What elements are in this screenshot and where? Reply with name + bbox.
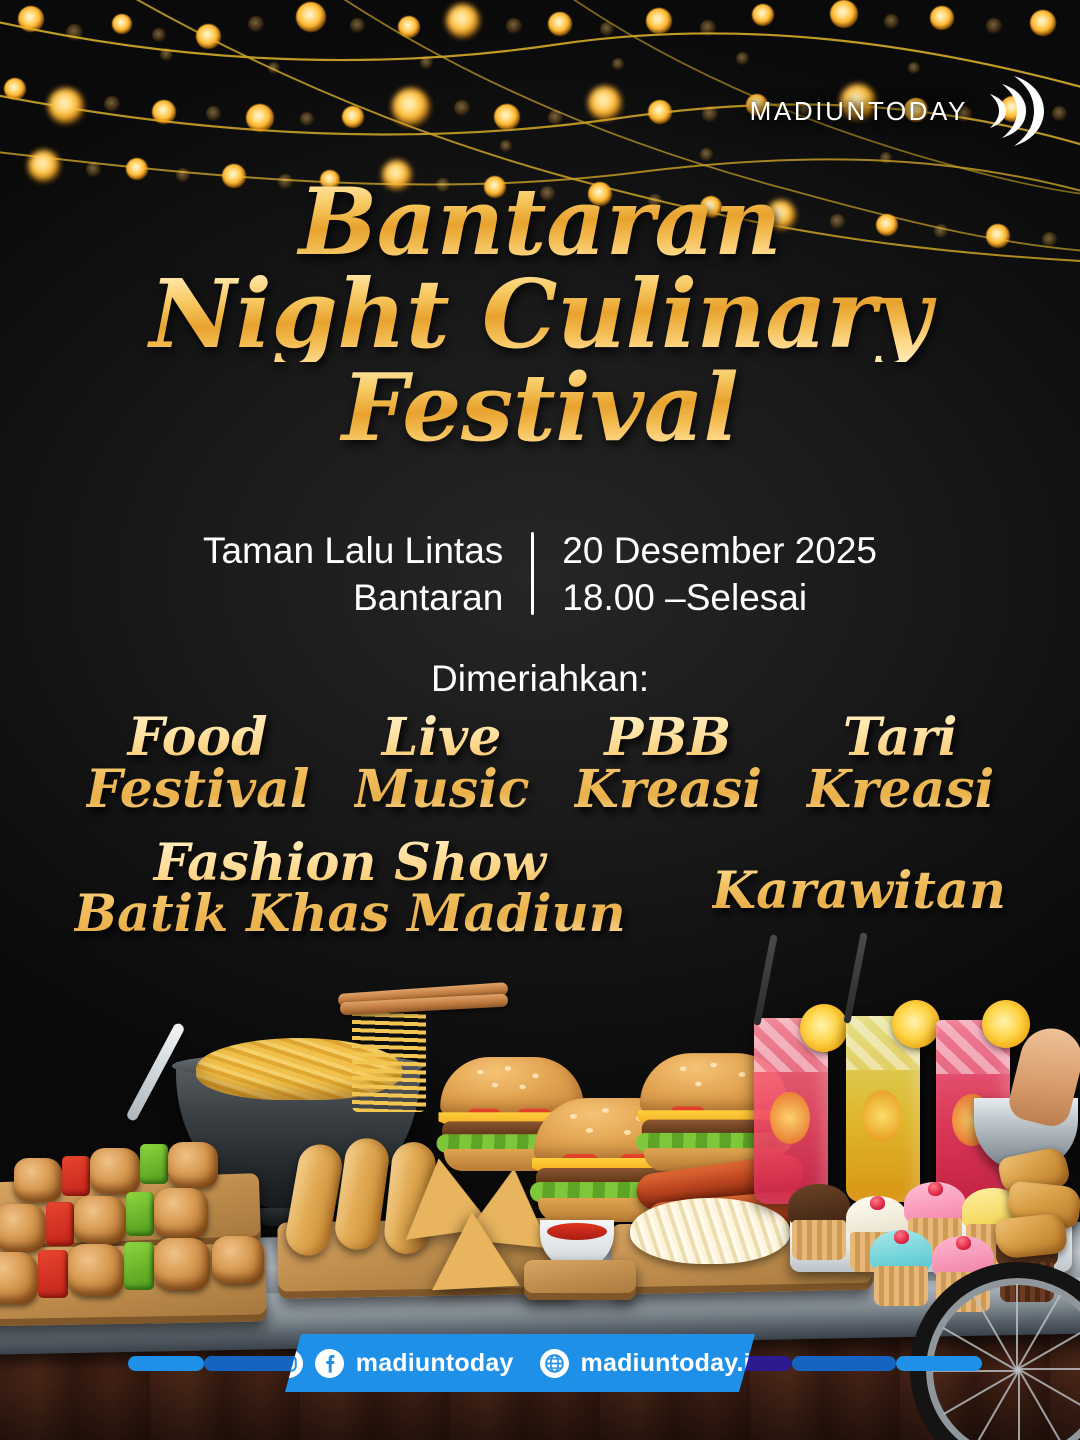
fried-chicken bbox=[994, 1212, 1068, 1259]
satay-meat bbox=[154, 1238, 210, 1290]
brand-logo[interactable]: MADIUNTODAY bbox=[750, 72, 1044, 150]
globe-icon[interactable] bbox=[540, 1349, 569, 1378]
lineup-item-pbb-kreasi: PBB Kreasi bbox=[574, 712, 762, 816]
swoosh-arc-icon bbox=[974, 72, 1044, 150]
lemon-garnish bbox=[800, 1004, 848, 1052]
cupcake-liner bbox=[874, 1266, 928, 1306]
logo-wordmark: MADIUNTODAY bbox=[750, 96, 968, 127]
drinking-straw bbox=[843, 932, 867, 1024]
lineup-item-live-music: Live Music bbox=[354, 712, 530, 816]
lineup-item-fashion-show: Fashion Show Batik Khas Madiun bbox=[74, 838, 626, 940]
lineup-row-2: Fashion Show Batik Khas Madiun Karawitan bbox=[0, 838, 1080, 940]
satay-meat bbox=[14, 1158, 62, 1202]
title-line-3: Festival bbox=[0, 362, 1080, 454]
lineup-item-tari-kreasi: Tari Kreasi bbox=[806, 712, 994, 816]
footer-contact-bar: madiuntoday madiuntoday.id bbox=[0, 1334, 1080, 1392]
satay-meat bbox=[0, 1252, 38, 1304]
fruit-slice bbox=[862, 1090, 902, 1142]
lineup-row-1: Food Festival Live Music PBB Kreasi Tari… bbox=[0, 712, 1080, 816]
satay-pepper-red bbox=[46, 1202, 74, 1246]
title-line-2: Night Culinary bbox=[0, 268, 1080, 362]
lineup-item-food-festival: Food Festival bbox=[86, 712, 310, 816]
footer-segment bbox=[792, 1356, 896, 1371]
lineup-item-karawitan: Karawitan bbox=[712, 838, 1006, 917]
satay-meat bbox=[68, 1244, 124, 1296]
satay-meat bbox=[0, 1204, 46, 1252]
cupcake-liner bbox=[792, 1220, 846, 1260]
venue-line-1: Taman Lalu Lintas bbox=[203, 528, 503, 575]
event-details: Taman Lalu Lintas Bantaran 20 Desember 2… bbox=[0, 528, 1080, 621]
cupcake-blue bbox=[870, 1230, 932, 1306]
samosa bbox=[428, 1210, 520, 1291]
page-title: Bantaran Night Culinary Festival bbox=[0, 176, 1080, 454]
lemon-garnish bbox=[892, 1000, 940, 1048]
berry-topping bbox=[894, 1230, 909, 1244]
footer-segment bbox=[128, 1356, 204, 1371]
satay-meat bbox=[74, 1196, 126, 1244]
sauce-board bbox=[524, 1260, 636, 1300]
footer-handles-panel: madiuntoday madiuntoday.id bbox=[285, 1334, 755, 1392]
venue-block: Taman Lalu Lintas Bantaran bbox=[203, 528, 531, 621]
satay-meat bbox=[168, 1142, 218, 1188]
lemon-garnish bbox=[982, 1000, 1030, 1048]
facebook-icon[interactable] bbox=[315, 1349, 344, 1378]
satay-pepper-green bbox=[126, 1192, 154, 1236]
datetime-block: 20 Desember 2025 18.00 –Selesai bbox=[534, 528, 877, 621]
berry-topping bbox=[870, 1196, 885, 1210]
satay-meat bbox=[212, 1236, 264, 1284]
social-handle-text: madiuntoday bbox=[356, 1349, 514, 1378]
satay-pepper-green bbox=[124, 1242, 154, 1290]
satay-pepper-red bbox=[62, 1156, 90, 1196]
drinking-straw bbox=[753, 934, 777, 1026]
cupcake-chocolate bbox=[788, 1184, 850, 1260]
berry-topping bbox=[928, 1182, 943, 1196]
event-date: 20 Desember 2025 bbox=[562, 528, 877, 575]
satay-meat bbox=[90, 1148, 140, 1194]
berry-topping bbox=[956, 1236, 971, 1250]
event-time: 18.00 –Selesai bbox=[562, 575, 877, 622]
venue-line-2: Bantaran bbox=[203, 575, 503, 622]
poster-root: MADIUNTODAY Bantaran Night Culinary Fest… bbox=[0, 0, 1080, 1440]
satay-pepper-green bbox=[140, 1144, 168, 1184]
shredded-cheese bbox=[630, 1198, 790, 1264]
satay-pepper-red bbox=[38, 1250, 68, 1298]
lineup-label: Dimeriahkan: bbox=[0, 658, 1080, 700]
fruit-slice bbox=[770, 1092, 810, 1144]
footer-segment bbox=[896, 1356, 982, 1371]
satay-meat bbox=[154, 1188, 208, 1238]
hanging-noodles bbox=[352, 1002, 426, 1112]
website-text: madiuntoday.id bbox=[581, 1349, 767, 1378]
title-line-1: Bantaran bbox=[0, 176, 1080, 268]
